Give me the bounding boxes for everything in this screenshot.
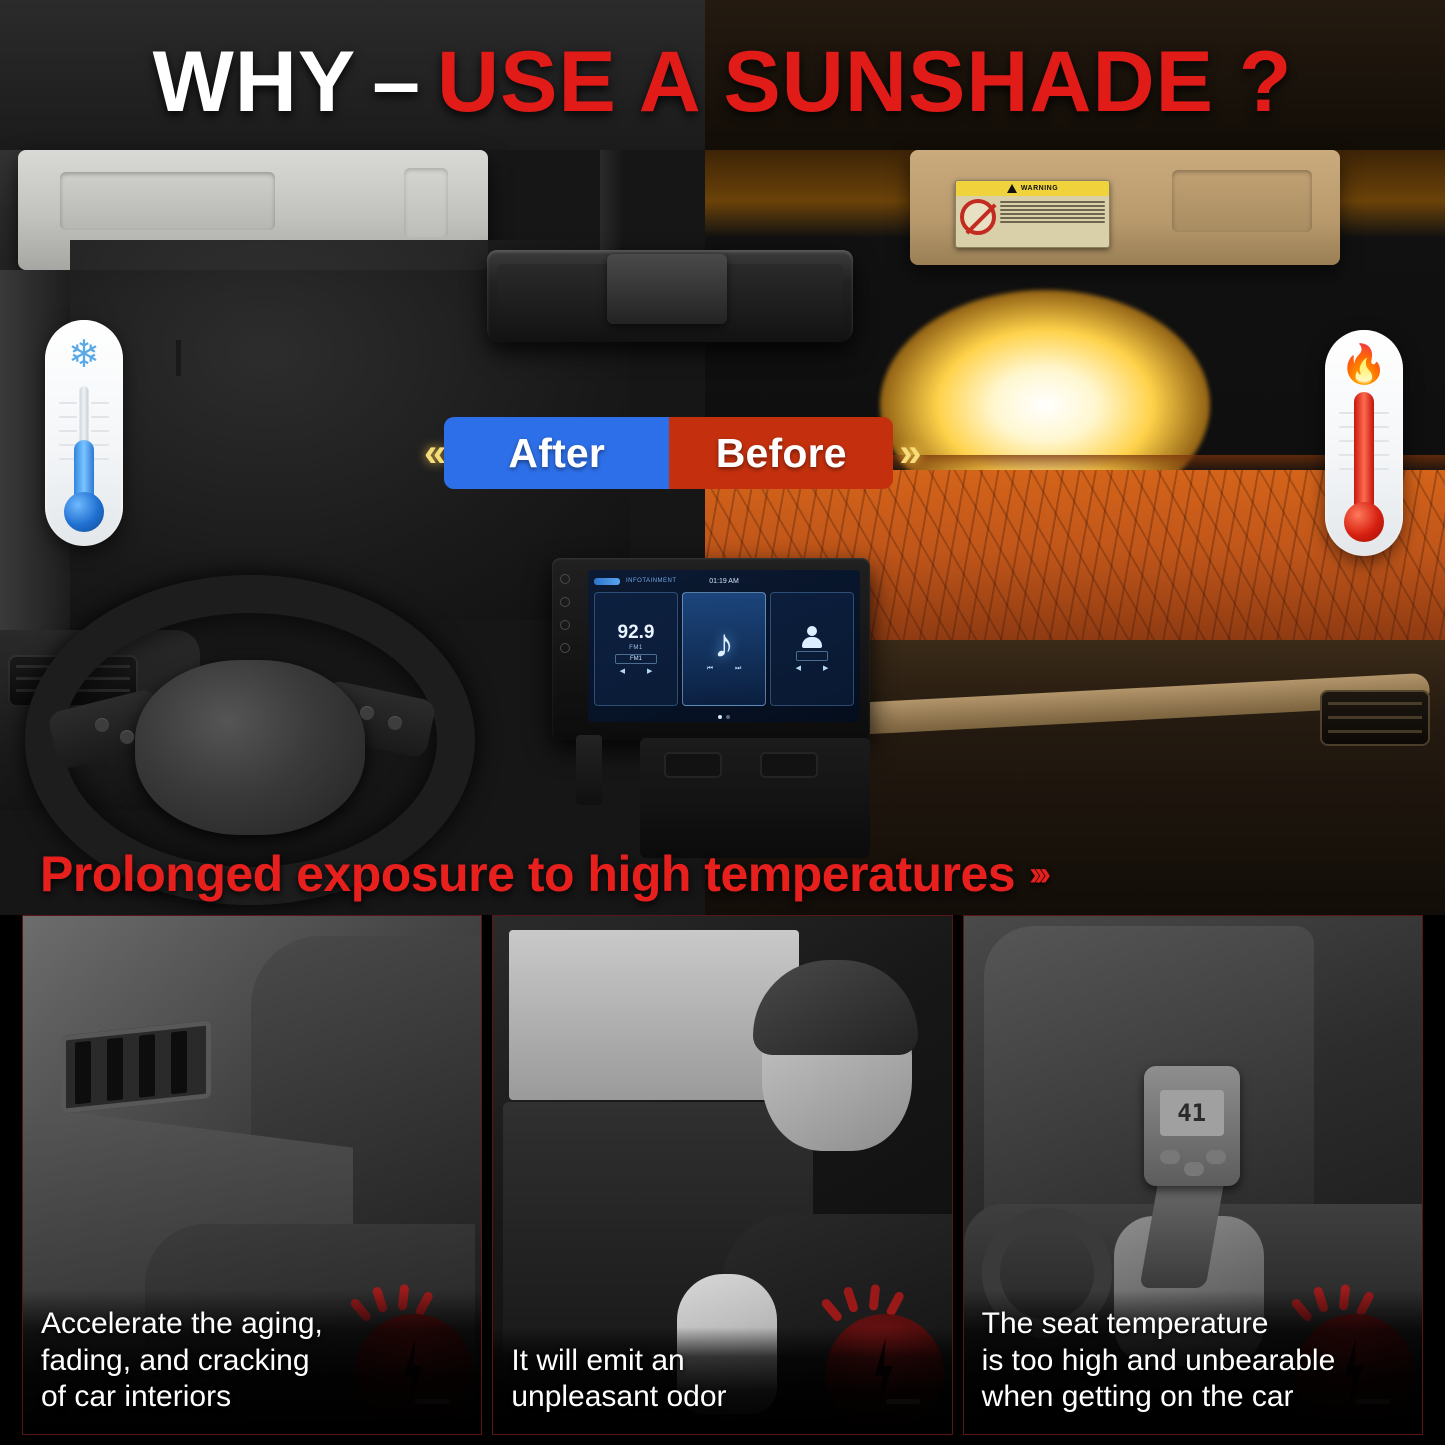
power-button-icon[interactable] bbox=[560, 574, 570, 584]
hero-comparison-section: WARNING bbox=[0, 0, 1445, 915]
warning-label-fineprint bbox=[1000, 199, 1105, 235]
profile-nav-controls[interactable]: ◀ ▶ bbox=[796, 664, 829, 672]
caption-line: unpleasant odor bbox=[511, 1379, 933, 1416]
visor-slot-right bbox=[1172, 170, 1312, 232]
person-icon bbox=[801, 626, 823, 648]
caption-line: is too high and unbearable bbox=[982, 1343, 1404, 1380]
banner-text: Prolonged exposure to high temperatures bbox=[40, 845, 1015, 903]
caption-line: Accelerate the aging, bbox=[41, 1306, 463, 1343]
track-next-icon[interactable]: ⏭ bbox=[735, 665, 741, 673]
cold-thermometer: ❄ bbox=[45, 320, 123, 546]
brand-logo-icon bbox=[594, 578, 620, 585]
media-card[interactable]: ♪ ⏮ ⏭ bbox=[682, 592, 766, 706]
media-controls[interactable]: ⏮ ⏭ bbox=[707, 665, 742, 673]
infotainment-head-unit[interactable]: INFOTAINMENT 01:19 AM 92.9 FM1 FM1 ◀ ▶ bbox=[552, 558, 870, 740]
section-banner: Prolonged exposure to high temperatures … bbox=[0, 838, 1445, 910]
steering-button bbox=[360, 706, 374, 720]
title-why: WHY bbox=[153, 33, 357, 132]
dashboard-vent-icon bbox=[61, 1020, 211, 1114]
radio-frequency: 92.9 bbox=[618, 623, 655, 642]
profile-prev-icon[interactable]: ◀ bbox=[796, 664, 801, 672]
profile-next-icon[interactable]: ▶ bbox=[823, 664, 828, 672]
caption-line: It will emit an bbox=[511, 1343, 933, 1380]
profile-pill[interactable] bbox=[796, 651, 828, 661]
thermometer-gun-display: 41 bbox=[1160, 1090, 1224, 1136]
gun-button bbox=[1160, 1150, 1180, 1164]
warning-triangle-icon bbox=[1007, 184, 1017, 193]
caption-line: when getting on the car bbox=[982, 1379, 1404, 1416]
speaker-icon[interactable] bbox=[560, 620, 570, 630]
flame-icon: 🔥 bbox=[1325, 346, 1403, 384]
product-infographic: WARNING bbox=[0, 0, 1445, 1445]
infrared-thermometer-gun: 41 bbox=[1144, 1066, 1240, 1186]
radio-band: FM1 bbox=[629, 645, 643, 651]
title-use-a-sunshade: USE A SUNSHADE ? bbox=[437, 33, 1292, 132]
profile-card[interactable]: ◀ ▶ bbox=[770, 592, 854, 706]
steering-wheel-airbag-hub bbox=[135, 660, 365, 835]
air-vent-right bbox=[1320, 690, 1430, 746]
warning-label-body bbox=[956, 196, 1109, 238]
console-vent-left bbox=[664, 752, 722, 778]
thermometer-bulb-hot bbox=[1344, 502, 1384, 542]
panel-caption: It will emit an unpleasant odor bbox=[493, 1327, 951, 1434]
warning-label-header: WARNING bbox=[956, 181, 1109, 196]
warning-label-text: WARNING bbox=[1021, 185, 1058, 192]
chevron-left-icon: « bbox=[424, 433, 438, 473]
caption-line: of car interiors bbox=[41, 1379, 463, 1416]
consequence-panels: Accelerate the aging, fading, and cracki… bbox=[0, 915, 1445, 1445]
hot-thermometer: 🔥 bbox=[1325, 330, 1403, 556]
banner-arrows-icon: ››› bbox=[1029, 855, 1045, 894]
seek-prev-icon[interactable]: ◀ bbox=[620, 667, 625, 675]
page-title: WHY – USE A SUNSHADE ? bbox=[0, 28, 1445, 136]
before-after-toggle: « After Before » bbox=[424, 415, 944, 491]
home-button-icon[interactable] bbox=[560, 643, 570, 653]
console-vent-right bbox=[760, 752, 818, 778]
after-badge[interactable]: After bbox=[444, 417, 669, 489]
page-dot[interactable] bbox=[726, 715, 730, 719]
caption-line: The seat temperature bbox=[982, 1306, 1404, 1343]
infotainment-status-bar: INFOTAINMENT 01:19 AM bbox=[594, 574, 854, 588]
chevron-right-icon: » bbox=[899, 433, 913, 473]
infotainment-clock: 01:19 AM bbox=[709, 578, 739, 585]
gun-button bbox=[1184, 1162, 1204, 1176]
track-prev-icon[interactable]: ⏮ bbox=[707, 665, 713, 673]
title-dash: – bbox=[372, 33, 421, 132]
infotainment-cards: 92.9 FM1 FM1 ◀ ▶ ♪ ⏮ ⏭ bbox=[594, 592, 854, 706]
thermometer-bulb-cold bbox=[64, 492, 104, 532]
mirror-post bbox=[600, 150, 622, 260]
snowflake-icon: ❄ bbox=[45, 336, 123, 374]
panel-seat-temperature: 41 The seat temperature is too high and … bbox=[963, 915, 1423, 1435]
sunshade-center-tab bbox=[607, 254, 727, 324]
page-indicator-dots[interactable] bbox=[718, 715, 730, 719]
before-badge[interactable]: Before bbox=[669, 417, 893, 489]
infotainment-side-buttons[interactable] bbox=[560, 574, 570, 653]
steering-button bbox=[95, 718, 109, 732]
visor-slot-left bbox=[60, 172, 275, 230]
caption-line: fading, and cracking bbox=[41, 1343, 463, 1380]
seek-next-icon[interactable]: ▶ bbox=[647, 667, 652, 675]
sunshade-stem bbox=[176, 340, 181, 376]
music-note-icon: ♪ bbox=[714, 626, 734, 662]
radio-seek-controls[interactable]: ◀ ▶ bbox=[620, 667, 653, 675]
radio-preset[interactable]: FM1 bbox=[615, 654, 657, 664]
visor-clip-left bbox=[404, 168, 448, 238]
volume-knob-icon[interactable] bbox=[560, 597, 570, 607]
steering-button bbox=[120, 730, 134, 744]
infotainment-brand: INFOTAINMENT bbox=[626, 578, 677, 584]
sunshade-visor-extender bbox=[487, 250, 853, 342]
page-dot-active[interactable] bbox=[718, 715, 722, 719]
panel-caption: The seat temperature is too high and unb… bbox=[964, 1290, 1422, 1434]
infotainment-screen[interactable]: INFOTAINMENT 01:19 AM 92.9 FM1 FM1 ◀ ▶ bbox=[588, 570, 860, 722]
panel-caption: Accelerate the aging, fading, and cracki… bbox=[23, 1290, 481, 1434]
radio-card[interactable]: 92.9 FM1 FM1 ◀ ▶ bbox=[594, 592, 678, 706]
panel-unpleasant-odor: It will emit an unpleasant odor bbox=[492, 915, 952, 1435]
panel-aging-fading-cracking: Accelerate the aging, fading, and cracki… bbox=[22, 915, 482, 1435]
no-rear-facing-child-seat-icon bbox=[960, 199, 996, 235]
steering-button bbox=[388, 716, 402, 730]
airbag-warning-label: WARNING bbox=[955, 180, 1110, 248]
gun-button bbox=[1206, 1150, 1226, 1164]
screen-mount-bracket bbox=[576, 735, 602, 805]
